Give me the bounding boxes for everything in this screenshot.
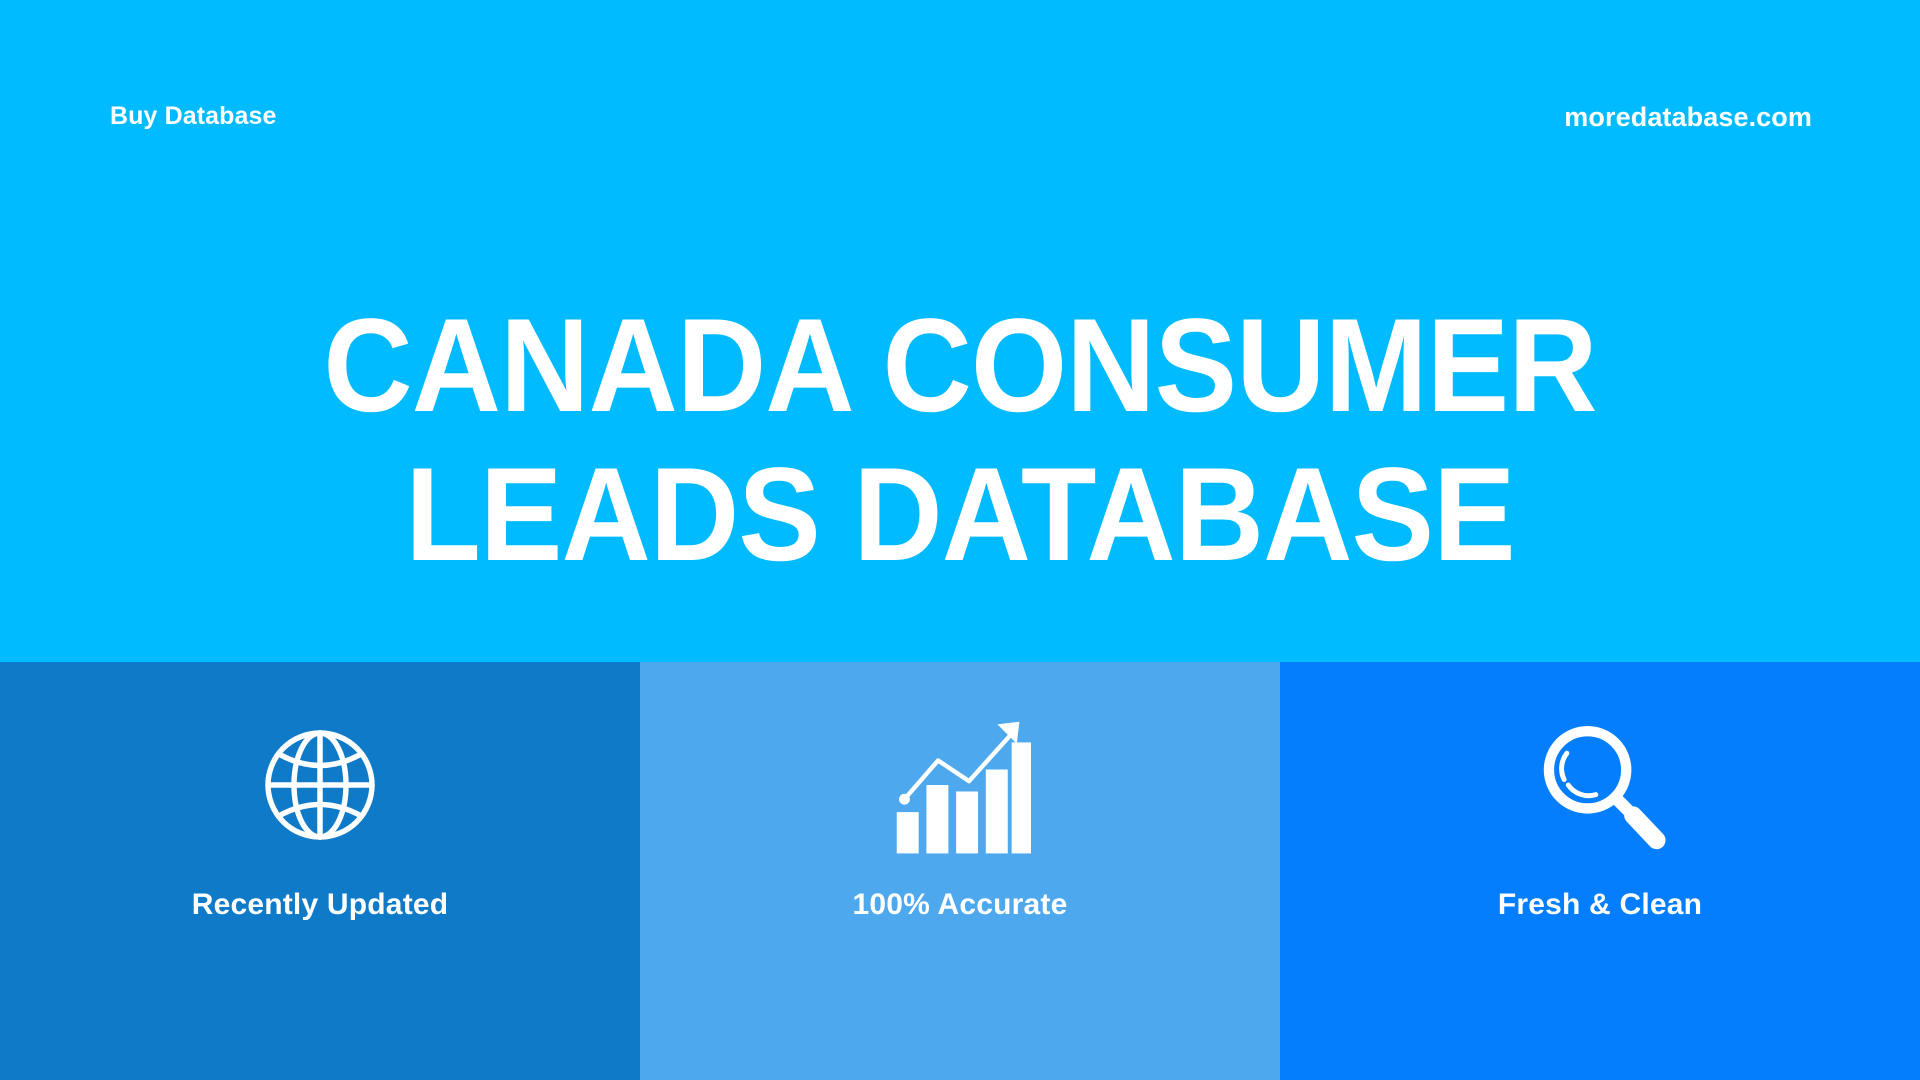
brand-bar: Buy Database moredatabase.com [0,0,1920,200]
page-title: CANADA CONSUMER LEADS DATABASE [179,292,1741,590]
growth-chart-icon [885,710,1035,860]
brand-name: Buy Database [110,104,277,129]
website-url[interactable]: moredatabase.com [1564,104,1812,131]
headline-container: CANADA CONSUMER LEADS DATABASE [0,292,1920,590]
promo-banner: Buy Database moredatabase.com CANADA CON… [0,0,1920,1080]
feature-panel-label: Fresh & Clean [1498,890,1702,920]
feature-panels: Recently Updated [0,662,1920,1080]
feature-panel-label: Recently Updated [192,890,449,920]
banner-header: Buy Database moredatabase.com CANADA CON… [0,0,1920,662]
globe-icon [245,710,395,860]
feature-panel-fresh-clean[interactable]: Fresh & Clean [1280,662,1920,1080]
feature-panel-accuracy[interactable]: 100% Accurate [640,662,1280,1080]
feature-panel-recently-updated[interactable]: Recently Updated [0,662,640,1080]
feature-panel-label: 100% Accurate [853,890,1068,920]
magnifier-icon [1525,710,1675,860]
